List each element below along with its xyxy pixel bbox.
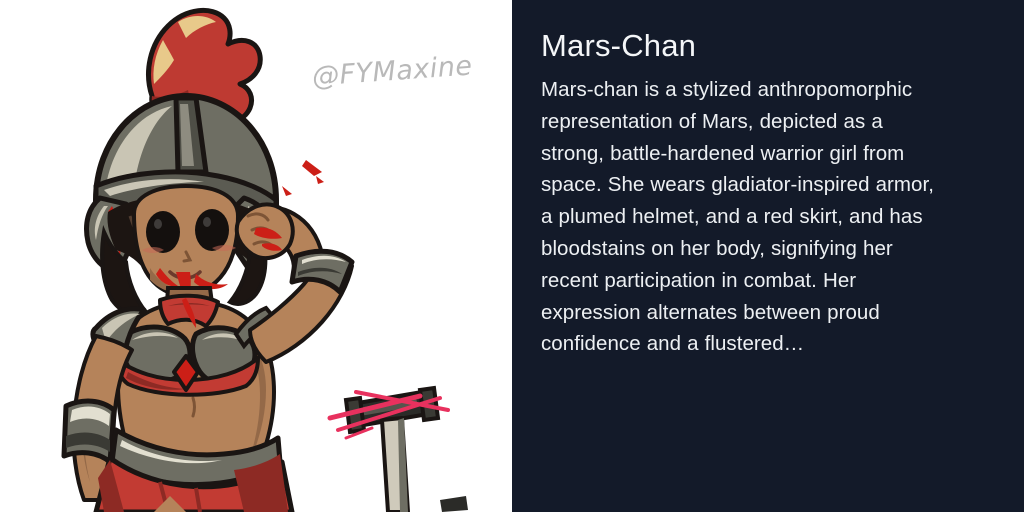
character-description-text: Mars-chan is a stylized anthropomorphic … — [541, 74, 941, 360]
character-name-title: Mars-Chan — [541, 26, 990, 66]
character-info-panel: Mars-Chan Mars-chan is a stylized anthro… — [512, 0, 1024, 512]
character-illustration-panel: @FYMaxine — [0, 0, 512, 512]
character-card: @FYMaxine Mars-Chan Mars-chan is a styli… — [0, 0, 1024, 512]
